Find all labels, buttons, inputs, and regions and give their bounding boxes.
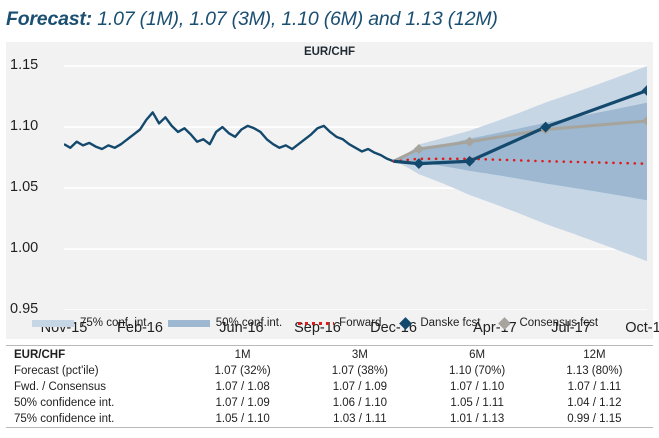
- legend-item-conf50[interactable]: 50% conf.int.: [168, 317, 282, 329]
- page-title: Forecast: 1.07 (1M), 1.07 (3M), 1.10 (6M…: [6, 8, 656, 38]
- legend-label: Forward: [339, 317, 381, 329]
- table-cell: 1.07 / 1.08: [184, 379, 301, 395]
- table-cell: 1.05 / 1.10: [184, 411, 301, 428]
- legend-swatch-band-icon: [168, 320, 210, 327]
- table-header-horizon: 6M: [419, 346, 536, 364]
- table-cell: 1.04 / 1.12: [536, 395, 653, 411]
- table-cell: 1.06 / 1.10: [301, 395, 418, 411]
- table-header-horizon: 3M: [301, 346, 418, 364]
- plot-area: [64, 60, 647, 310]
- table-cell: 1.07 / 1.09: [301, 379, 418, 395]
- table-header-row: EUR/CHF1M3M6M12M: [6, 346, 653, 364]
- table-row: 75% confidence int.1.05 / 1.101.03 / 1.1…: [6, 411, 653, 428]
- y-tick-label: 1.00: [10, 240, 60, 256]
- legend-swatch-band-icon: [32, 320, 74, 327]
- table-cell: 1.07 (32%): [184, 363, 301, 379]
- legend-item-danske[interactable]: Danske fcst: [397, 317, 480, 329]
- table-cell: 1.03 / 1.11: [301, 411, 418, 428]
- legend-item-conf75[interactable]: 75% conf. int.: [32, 317, 150, 329]
- forecast-table-wrap: EUR/CHF1M3M6M12M Forecast (pct'ile)1.07 …: [6, 345, 653, 428]
- table-row-label: Forecast (pct'ile): [6, 363, 184, 379]
- legend-swatch-dotted-icon: [298, 322, 334, 325]
- table-cell: 1.13 (80%): [536, 363, 653, 379]
- table-row-label: Fwd. / Consensus: [6, 379, 184, 395]
- chart-title: EUR/CHF: [6, 46, 653, 58]
- table-row: Forecast (pct'ile)1.07 (32%)1.07 (38%)1.…: [6, 363, 653, 379]
- legend-swatch-diamond-icon: [399, 317, 412, 330]
- table-row: Fwd. / Consensus1.07 / 1.081.07 / 1.091.…: [6, 379, 653, 395]
- table-header-horizon: 1M: [184, 346, 301, 364]
- table-row-label: 75% confidence int.: [6, 411, 184, 428]
- table-cell: 1.05 / 1.11: [419, 395, 536, 411]
- headline-rest: 1.07 (1M), 1.07 (3M), 1.10 (6M) and 1.13…: [92, 8, 498, 30]
- table-row-label: 50% confidence int.: [6, 395, 184, 411]
- chart-legend: 75% conf. int.50% conf.int.ForwardDanske…: [6, 311, 653, 335]
- headline-lead: Forecast:: [6, 8, 92, 30]
- y-tick-label: 1.05: [10, 179, 60, 195]
- y-tick-label: 1.15: [10, 57, 60, 73]
- table-body: Forecast (pct'ile)1.07 (32%)1.07 (38%)1.…: [6, 363, 653, 428]
- legend-label: Danske fcst: [420, 317, 480, 329]
- table-cell: 0.99 / 1.15: [536, 411, 653, 428]
- table-header-pair: EUR/CHF: [6, 346, 184, 364]
- legend-label: 75% conf. int.: [80, 317, 150, 329]
- chart-svg: [64, 60, 647, 310]
- table-cell: 1.07 / 1.11: [536, 379, 653, 395]
- y-tick-label: 1.10: [10, 118, 60, 134]
- table-header-horizon: 12M: [536, 346, 653, 364]
- chart-panel: EUR/CHF 1.151.101.051.000.95 Nov-15Feb-1…: [6, 42, 653, 339]
- spot-history-line: [64, 112, 394, 161]
- table-cell: 1.01 / 1.13: [419, 411, 536, 428]
- table-cell: 1.07 (38%): [301, 363, 418, 379]
- legend-item-consensus[interactable]: Consensus fcst: [496, 317, 598, 329]
- legend-swatch-diamond-icon: [499, 317, 512, 330]
- forecast-table: EUR/CHF1M3M6M12M Forecast (pct'ile)1.07 …: [6, 345, 653, 428]
- legend-label: Consensus fcst: [519, 317, 598, 329]
- legend-label: 50% conf.int.: [216, 317, 282, 329]
- table-cell: 1.07 / 1.09: [184, 395, 301, 411]
- table-cell: 1.10 (70%): [419, 363, 536, 379]
- forecast-panel: Forecast: 1.07 (1M), 1.07 (3M), 1.10 (6M…: [0, 0, 659, 438]
- legend-item-forward[interactable]: Forward: [298, 317, 381, 329]
- table-row: 50% confidence int.1.07 / 1.091.06 / 1.1…: [6, 395, 653, 411]
- table-cell: 1.07 / 1.10: [419, 379, 536, 395]
